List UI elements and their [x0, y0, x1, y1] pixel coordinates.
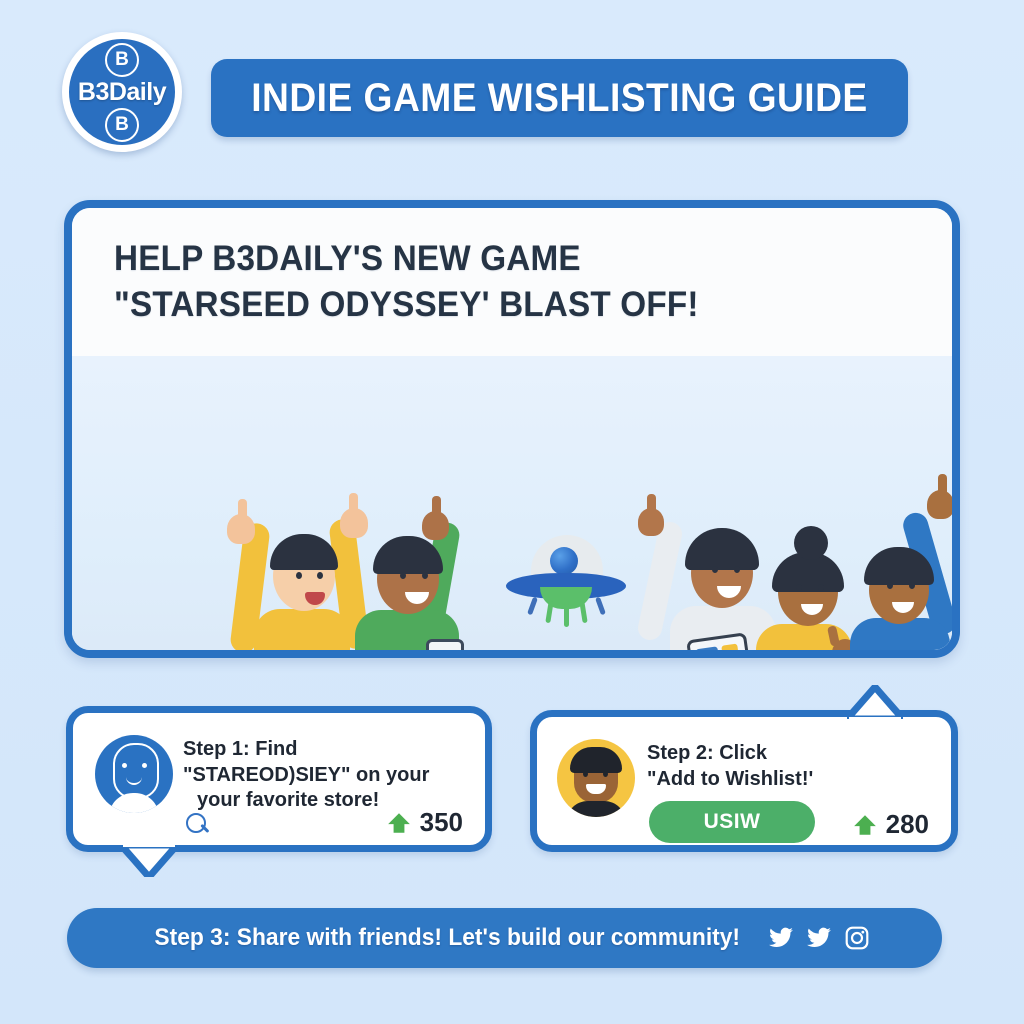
headline-area: HELP B3DAILY'S NEW GAME "STARSEED ODYSSE… — [72, 208, 952, 356]
step-2-bubble-tail — [847, 685, 903, 719]
step-1-card[interactable]: Step 1: Find "STAREOD)SIEY" on your your… — [66, 706, 492, 852]
add-to-wishlist-button[interactable]: USIW — [649, 801, 815, 843]
step-2-line-1: Step 2: Click — [647, 741, 813, 767]
page-title-banner: INDIE GAME WISHLISTING GUIDE — [211, 59, 908, 137]
logo-wordmark: B3Daily — [78, 78, 166, 107]
step-1-line-2: "STAREOD)SIEY" on your — [183, 763, 429, 789]
step-2-upvote-count: 280 — [886, 809, 929, 840]
logo-bottom-badge-icon: B — [105, 108, 139, 142]
search-icon[interactable] — [186, 813, 210, 837]
phone-icon — [426, 639, 464, 658]
brand-logo[interactable]: B B3Daily B — [62, 32, 182, 152]
avatar-face-yellow — [557, 739, 635, 817]
headline-line-1: HELP B3DAILY'S NEW GAME — [114, 236, 910, 282]
avatar-face-blue — [95, 735, 173, 813]
headline-line-2: "STARSEED ODYSSEY' BLAST OFF! — [114, 282, 910, 328]
step-1-upvote[interactable]: 350 — [386, 807, 463, 838]
upvote-arrow-icon — [852, 812, 878, 838]
logo-top-badge-icon: B — [105, 43, 139, 77]
step-2-card[interactable]: Step 2: Click "Add to Wishlist!' USIW 28… — [530, 710, 958, 852]
step-2-text: Step 2: Click "Add to Wishlist!' — [647, 741, 813, 792]
ufo-icon — [506, 535, 626, 625]
upvote-arrow-icon — [386, 810, 412, 836]
main-hero-card: HELP B3DAILY'S NEW GAME "STARSEED ODYSSE… — [64, 200, 960, 658]
twitter-icon[interactable] — [806, 925, 832, 951]
step-1-bubble-tail — [121, 845, 177, 877]
page-title: INDIE GAME WISHLISTING GUIDE — [251, 76, 868, 121]
step-2-line-2: "Add to Wishlist!' — [647, 767, 813, 793]
step-1-upvote-count: 350 — [420, 807, 463, 838]
step-1-line-1: Step 1: Find — [183, 737, 429, 763]
step-3-text: Step 3: Share with friends! Letʹs build … — [155, 924, 741, 952]
poster-canvas: B B3Daily B INDIE GAME WISHLISTING GUIDE… — [0, 0, 1024, 1024]
instagram-icon[interactable] — [844, 925, 870, 951]
hero-illustration: 1.2K — [72, 356, 952, 650]
step-2-upvote[interactable]: 280 — [852, 809, 929, 840]
step-3-share-banner[interactable]: Step 3: Share with friends! Letʹs build … — [67, 908, 942, 968]
twitter-icon[interactable] — [768, 925, 794, 951]
step-1-text: Step 1: Find "STAREOD)SIEY" on your your… — [183, 737, 429, 814]
